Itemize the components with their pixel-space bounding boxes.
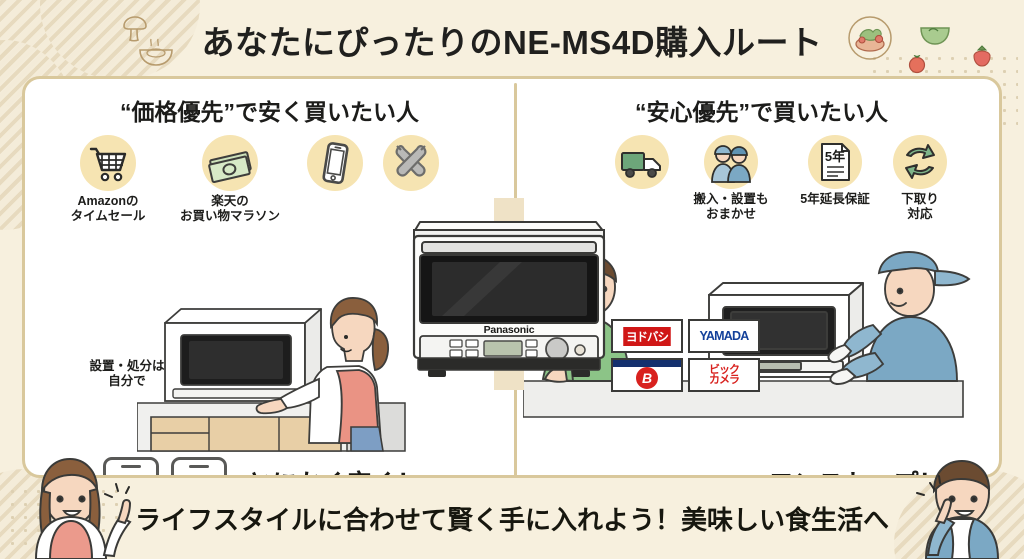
- left-icon-label-amazon-1: Amazonの: [61, 194, 155, 209]
- right-icon-label-warranty: 5年延長保証: [791, 192, 879, 207]
- yamada-logo: YAMADA: [688, 319, 760, 353]
- money-bills-icon: [202, 135, 258, 191]
- right-icon-label-installers-1: 搬入・設置も: [683, 192, 779, 207]
- right-icon-cell-installers: 搬入・設置も おまかせ: [683, 135, 779, 222]
- bestdenki-logo-text: B: [642, 370, 652, 386]
- bottom-banner: ライフスタイルに合わせて賢く手に入れよう！美味しい食生活へ: [0, 477, 1024, 559]
- left-icon-cell-smartphone: [305, 135, 365, 191]
- left-icon-label-rakuten-1: 楽天の: [171, 194, 289, 209]
- right-icon-row: 搬入・設置も おまかせ 5年 5年延長保証: [613, 135, 949, 222]
- left-icon-cell-rakuten: 楽天の お買い物マラソン: [171, 135, 289, 224]
- delivery-truck-icon: [615, 135, 669, 189]
- tomato-doodle-icon: [906, 52, 928, 74]
- salad-plate-doodle-icon: [846, 14, 894, 62]
- rakuten-phone: Rakuten: [171, 457, 227, 478]
- left-icon-label-amazon-2: タイムセール: [61, 209, 155, 224]
- right-icon-cell-tradein: 下取り 対応: [891, 135, 949, 222]
- yamada-logo-text: YAMADA: [700, 329, 749, 343]
- panel-left-heading-rest: で安く買いたい人: [235, 99, 419, 125]
- yodobashi-logo-text: ヨドバシ: [623, 327, 671, 346]
- svg-text:5年: 5年: [825, 149, 845, 164]
- strawberry-doodle-icon: [972, 44, 992, 68]
- scene-woman-placing-microwave: [137, 275, 407, 455]
- panel-right-heading-quoted: “安心優先”: [635, 93, 750, 127]
- left-icon-cell-tools: [381, 135, 441, 191]
- man-pointing-up-character: [894, 441, 1016, 559]
- right-icon-label-tradein-1: 下取り: [891, 192, 949, 207]
- green-bowl-doodle-icon: [918, 18, 952, 50]
- right-icon-label-tradein-2: 対応: [891, 207, 949, 222]
- smartphone-icon: [307, 135, 363, 191]
- shopping-cart-icon: [80, 135, 136, 191]
- right-icon-cell-truck: [613, 135, 671, 189]
- left-icon-row: Amazonの タイムセール 楽天の お買い: [61, 135, 441, 224]
- product-brand-label: Panasonic: [484, 324, 535, 336]
- right-icon-cell-warranty: 5年 5年延長保証: [791, 135, 879, 207]
- phone-notch-rakuten: [189, 465, 209, 468]
- warranty-document-icon: 5年: [808, 135, 862, 189]
- bic-camera-logo-inner: ビック カメラ: [709, 365, 739, 386]
- panel-right-heading-rest: で買いたい人: [750, 99, 888, 125]
- left-icon-label-rakuten-2: お買い物マラソン: [171, 209, 289, 224]
- header: あなたにぴったりのNE-MS4D購入ルート: [0, 0, 1024, 78]
- panel-left-heading-quoted: “価格優先”: [120, 93, 235, 127]
- right-icon-label-installers-2: おまかせ: [683, 207, 779, 222]
- tools-wrench-icon: [383, 135, 439, 191]
- retailer-logo-grid: ヨドバシ YAMADA B ビック カメラ: [611, 319, 761, 393]
- infographic-root: あなたにぴったりのNE-MS4D購入ルート: [0, 0, 1024, 559]
- left-icon-cell-amazon: Amazonの タイムセール: [61, 135, 155, 224]
- panel-left-heading: “価格優先”で安く買いたい人: [25, 93, 514, 127]
- bic-camera-logo: ビック カメラ: [688, 358, 760, 392]
- bic-camera-logo-text2: カメラ: [709, 375, 739, 385]
- banner-message: ライフスタイルに合わせて賢く手に入れよう！美味しい食生活へ: [0, 500, 1024, 537]
- panel-right-heading: “安心優先”で買いたい人: [517, 93, 1002, 127]
- bestdenki-logo-mark: B: [636, 367, 658, 389]
- trade-in-recycle-icon: [893, 135, 947, 189]
- installers-icon: [704, 135, 758, 189]
- product-microwave-oven: Panasonic: [398, 198, 624, 390]
